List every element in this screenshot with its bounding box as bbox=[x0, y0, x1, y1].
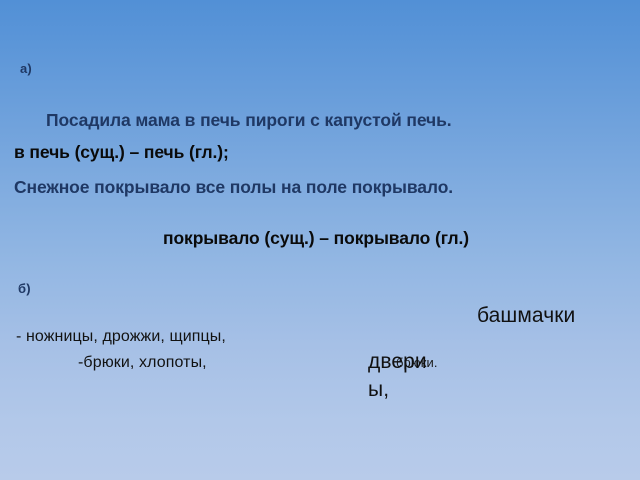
slide-canvas: а) Посадила мама в печь пироги с капусто… bbox=[0, 0, 640, 480]
word-y-fragment: ы, bbox=[368, 378, 389, 402]
sentence-pech: Посадила мама в печь пироги с капустой п… bbox=[46, 110, 452, 130]
sentence-pokryvalo: Снежное покрывало все полы на поле покры… bbox=[14, 176, 484, 198]
list-line-nozhnitsy: - ножницы, дрожжи, щипцы, bbox=[16, 328, 226, 346]
list-line-bryuki: -брюки, хлопоты, bbox=[78, 354, 207, 372]
word-bashmachki: башмачки bbox=[477, 304, 575, 328]
section-marker-b: б) bbox=[18, 282, 31, 297]
analysis-pokryvalo: покрывало (сущ.) – покрывало (гл.) bbox=[163, 228, 469, 248]
analysis-pech: в печь (сущ.) – печь (гл.); bbox=[14, 142, 229, 162]
word-dveri: двери bbox=[368, 350, 427, 374]
section-marker-a: а) bbox=[20, 62, 32, 77]
